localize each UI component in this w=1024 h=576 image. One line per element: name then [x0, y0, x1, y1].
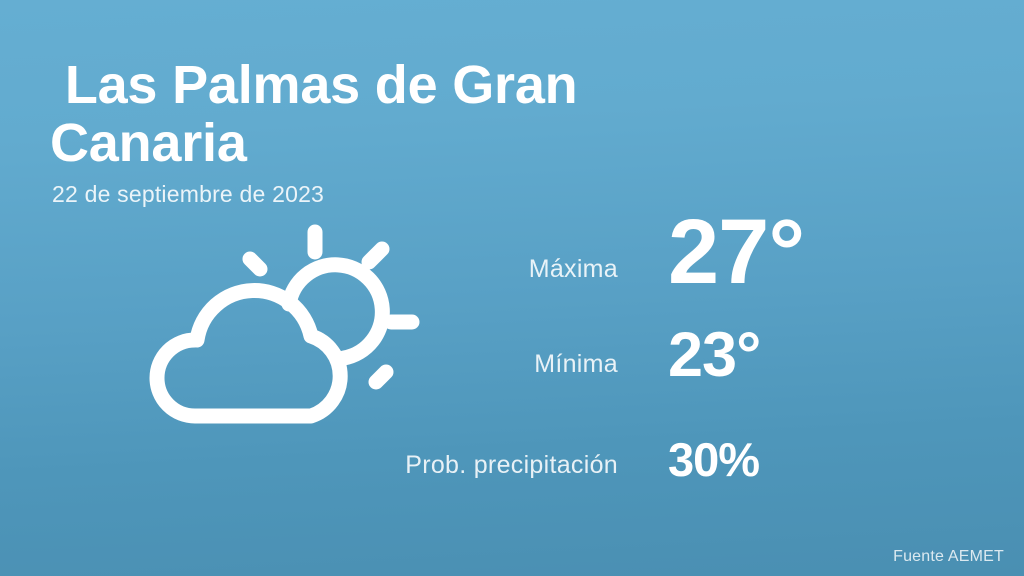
- minima-value: 23°: [668, 324, 760, 387]
- maxima-value: 27°: [668, 206, 804, 298]
- forecast-data-panel: Máxima 27° Mínima 23° Prob. precipitació…: [380, 206, 980, 496]
- minima-label: Mínima: [380, 350, 668, 379]
- forecast-date: 22 de septiembre de 2023: [52, 180, 770, 208]
- header-block: Las Palmas de Gran Canaria 22 de septiem…: [50, 56, 770, 208]
- forecast-row-precipitacion: Prob. precipitación 30%: [380, 436, 980, 496]
- precipitacion-label: Prob. precipitación: [380, 451, 668, 480]
- weather-card: Las Palmas de Gran Canaria 22 de septiem…: [0, 0, 1024, 576]
- forecast-row-minima: Mínima 23°: [380, 324, 980, 436]
- source-attribution: Fuente AEMET: [893, 548, 1004, 566]
- maxima-label: Máxima: [380, 255, 668, 284]
- page-title: Las Palmas de Gran Canaria: [50, 56, 770, 172]
- precipitacion-value: 30%: [668, 436, 759, 483]
- forecast-row-maxima: Máxima 27°: [380, 206, 980, 324]
